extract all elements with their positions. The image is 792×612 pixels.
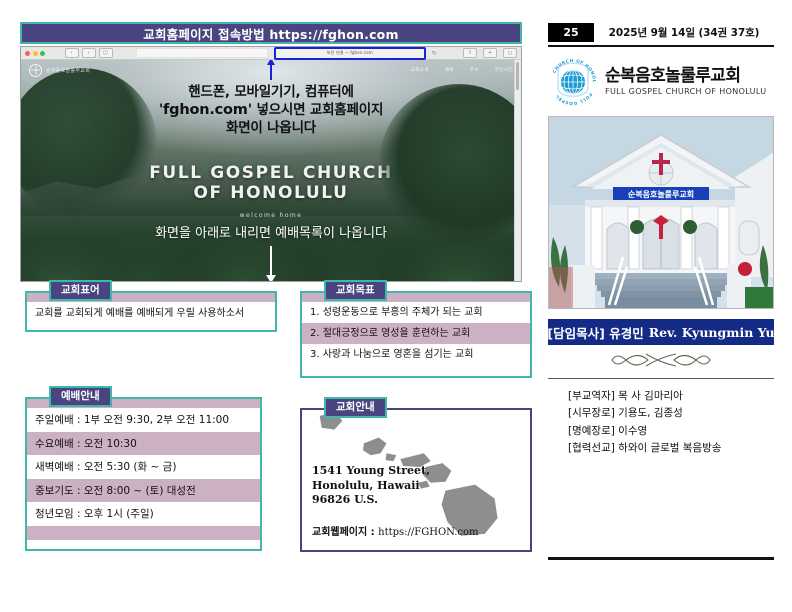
staff-line: [명예장로] 이수영 [568,423,774,440]
instruction-line-2: 'fghon.com' 넣으시면 교회홈페이지 [21,101,521,120]
church-address: 1541 Young Street, Honolulu, Hawaii 9682… [312,464,430,508]
instruction-overlay: 핸드폰, 모바일기기, 컴퓨터에 'fghon.com' 넣으시면 교회홈페이지… [21,84,521,137]
church-building-illustration: 순복음호놀룰루교회 [549,117,773,308]
church-name-english: FULL GOSPEL CHURCH OF HONOLULU [605,87,767,96]
svg-text:순복음호놀룰루교회: 순복음호놀룰루교회 [628,189,694,199]
tabs-overview-icon[interactable]: ◻ [503,48,517,58]
browser-screenshot: ‹ › ◫ 보안 연결 — fghon.com ↻ ⇧ + ◻ [20,46,522,282]
worship-schedule-row: 주일예배 : 1부 오전 9:30, 2부 오전 11:00 [27,408,260,432]
scrollbar-thumb[interactable] [516,62,519,90]
nav-link-2[interactable]: 주보 [470,67,479,73]
sidebar-icon[interactable]: ◫ [99,48,113,58]
church-website-url[interactable]: https://FGHON.com [378,527,478,538]
staff-line: [협력선교] 하와이 글로벌 복음방송 [568,440,774,457]
church-website-label: 교회웹페이지 : [312,527,378,538]
church-goal-item: 1. 성령운동으로 부흥의 주체가 되는 교회 [302,302,530,323]
senior-pastor-korean: [담임목사] 유경민 [547,323,643,342]
website-church-name: 순복음호놀룰루교회 [46,67,90,74]
church-motto-text: 교회를 교회되게 예배를 예배되게 우릴 사용하소서 [27,302,275,326]
reload-icon[interactable]: ↻ [432,50,437,57]
staff-list: [부교역자] 목 사 김마리아 [시무장로] 기용도, 김종성 [명예장로] 이… [548,388,774,457]
worship-schedule-row: 청년모임 : 오후 1시 (주일) [27,502,260,526]
senior-pastor-english: Rev. Kyungmin Yu [649,325,775,340]
church-logo: CHURCH OF HONOLULU FULL GOSPEL [548,57,598,107]
nav-link-0[interactable]: 교회소개 [411,67,429,73]
divider-ornament [548,345,774,375]
church-goals-tab: 교회목표 [324,280,387,301]
church-motto-panel: 교회표어 교회를 교회되게 예배를 예배되게 우릴 사용하소서 [25,280,277,332]
staff-line: [부교역자] 목 사 김마리아 [568,388,774,405]
issue-date: 2025년 9월 14일 (34권 37호) [594,25,774,40]
worship-schedule-row: 새벽예배 : 오전 5:30 (화 ~ 금) [27,455,260,479]
worship-schedule-row: 중보기도 : 오전 8:00 ~ (토) 대성전 [27,479,260,503]
hero-title: FULL GOSPEL CHURCH OF HONOLULU [21,164,521,203]
instruction-domain: 'fghon.com' [159,102,252,118]
minimize-icon[interactable] [33,51,38,56]
church-goal-item: 2. 절대긍정으로 영성을 훈련하는 교회 [302,323,530,344]
church-info-panel: 교회안내 1541 Young Street, Honolulu, [300,397,532,552]
hero-welcome-text: welcome home [21,212,521,219]
worship-schedule-panel: 예배안내 주일예배 : 1부 오전 9:30, 2부 오전 11:00 수요예배… [25,386,262,551]
browser-scrollbar[interactable] [514,60,521,281]
new-tab-icon[interactable]: + [483,48,497,58]
hero-title-line-2: OF HONOLULU [21,184,521,204]
worship-schedule-body: 주일예배 : 1부 오전 9:30, 2부 오전 11:00 수요예배 : 오전… [25,397,262,551]
bulletin-header: 25 2025년 9월 14일 (34권 37호) [548,22,774,42]
address-line-2: Honolulu, Hawaii [312,479,430,494]
website-globe-icon [29,64,42,77]
globe-logo-icon: CHURCH OF HONOLULU FULL GOSPEL [548,57,598,107]
instruction-line-3: 화면이 나옵니다 [21,120,521,137]
instruction-line-2-rest: 넣으시면 교회홈페이지 [256,102,383,118]
instruction-line-1: 핸드폰, 모바일기기, 컴퓨터에 [21,84,521,101]
church-website-line: 교회웹페이지 : https://FGHON.com [312,523,479,538]
church-info-body: 1541 Young Street, Honolulu, Hawaii 9682… [300,408,532,552]
worship-schedule-row: 수요예배 : 오전 10:30 [27,432,260,456]
address-area: 보안 연결 — fghon.com ↻ [113,47,461,60]
left-column: 교회홈페이지 접속방법 https://fghon.com ‹ › ◫ 보안 연… [20,22,522,592]
share-icon[interactable]: ⇧ [463,48,477,58]
church-building-photo: 순복음호놀룰루교회 [548,116,774,309]
close-icon[interactable] [25,51,30,56]
staff-top-rule [548,378,774,379]
bulletin-page: 교회홈페이지 접속방법 https://fghon.com ‹ › ◫ 보안 연… [0,0,792,612]
church-brand-text: 순복음호놀룰루교회 FULL GOSPEL CHURCH OF HONOLULU [605,68,767,97]
maximize-icon[interactable] [40,51,45,56]
church-goals-body: 1. 성령운동으로 부흥의 주체가 되는 교회 2. 절대긍정으로 영성을 훈련… [300,291,532,378]
church-name-korean: 순복음호놀룰루교회 [605,68,767,86]
church-brand: CHURCH OF HONOLULU FULL GOSPEL 순복음호놀룰루교회… [548,56,774,108]
address-line-3: 96826 U.S. [312,493,430,508]
church-motto-tab: 교회표어 [49,280,112,301]
arrow-down-icon [270,246,272,276]
scroll-hint-text: 화면을 아래로 내리면 예배목록이 나옵니다 [21,222,521,241]
browser-chrome: ‹ › ◫ 보안 연결 — fghon.com ↻ ⇧ + ◻ [21,47,521,60]
right-column: 25 2025년 9월 14일 (34권 37호) [548,22,774,592]
header-rule [548,45,774,47]
website-hero-screenshot: 순복음호놀룰루교회 교회소개 예배 주보 헌신사진 핸드폰, 모바일기기, 컴퓨… [21,60,521,282]
website-access-banner: 교회홈페이지 접속방법 https://fghon.com [20,22,522,44]
back-icon[interactable]: ‹ [65,48,79,58]
nav-link-1[interactable]: 예배 [445,67,454,73]
forward-icon[interactable]: › [82,48,96,58]
website-access-banner-text: 교회홈페이지 접속방법 https://fghon.com [143,24,398,43]
url-bar[interactable]: 보안 연결 — fghon.com [274,47,426,60]
church-goals-panel: 교회목표 1. 성령운동으로 부흥의 주체가 되는 교회 2. 절대긍정으로 영… [300,280,532,378]
nav-link-3[interactable]: 헌신사진 [495,67,513,73]
church-info-tab: 교회안내 [324,397,387,418]
senior-pastor-bar: [담임목사] 유경민 Rev. Kyungmin Yu [548,319,774,345]
worship-schedule-tab: 예배안내 [49,386,112,407]
staff-line: [시무장로] 기용도, 김종성 [568,405,774,422]
search-field-ghost[interactable] [136,48,268,58]
address-line-1: 1541 Young Street, [312,464,430,479]
worship-schedule-empty-row [27,526,260,540]
chrome-right-group: ⇧ + ◻ [460,48,517,58]
hero-title-line-1: FULL GOSPEL CHURCH [21,164,521,184]
flourish-ornament-icon [606,349,716,371]
footer-rule [548,557,774,560]
website-nav-links: 교회소개 예배 주보 헌신사진 [411,67,513,73]
page-number: 25 [548,23,594,42]
church-goal-item: 3. 사랑과 나눔으로 영혼을 섬기는 교회 [302,344,530,365]
